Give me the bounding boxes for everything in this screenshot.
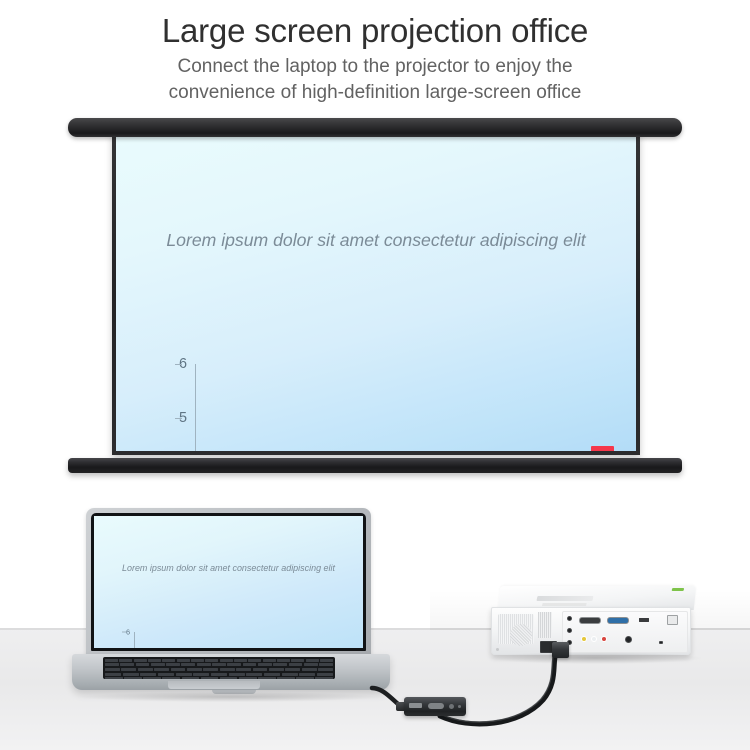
screen-top-roller-bar xyxy=(68,118,682,137)
keyboard-key xyxy=(291,659,304,662)
keyboard-key xyxy=(181,663,195,666)
screen-surface: Lorem ipsum dolor sit amet consectetur a… xyxy=(116,137,636,451)
projector-vent xyxy=(538,612,552,638)
y-tick-label: 5 xyxy=(179,410,195,426)
projector-green-accent xyxy=(672,588,685,591)
sub-audio-jack xyxy=(625,636,632,643)
keyboard-key xyxy=(105,663,119,666)
bar-group xyxy=(443,364,567,451)
bar-group xyxy=(323,632,363,648)
keyboard-key xyxy=(229,673,245,676)
keyboard-key xyxy=(154,668,169,671)
laptop-device: Lorem ipsum dolor sit amet consectetur a… xyxy=(72,508,390,706)
keyboard-key xyxy=(317,673,333,676)
keyboard-key xyxy=(269,668,284,671)
keyboard-key xyxy=(320,659,333,662)
audio-jack-1 xyxy=(567,616,572,621)
keyboard-key xyxy=(299,673,315,676)
slide-content-small: Lorem ipsum dolor sit amet consectetur a… xyxy=(94,516,363,648)
keyboard-key xyxy=(315,677,333,679)
keyboard-key xyxy=(201,677,219,679)
subtitle-line-2: convenience of high-definition large-scr… xyxy=(0,80,750,106)
keyboard-key xyxy=(197,663,211,666)
keyboard-key xyxy=(134,659,147,662)
keyboard-key xyxy=(306,659,319,662)
keyboard-key xyxy=(162,659,175,662)
y-tick-label: 6 xyxy=(179,356,195,372)
bar-group xyxy=(134,632,197,648)
keyboard-key xyxy=(319,663,333,666)
keyboard-key xyxy=(258,677,276,679)
keyboard-key xyxy=(264,673,280,676)
keyboard-key xyxy=(277,659,290,662)
keyboard-row xyxy=(103,677,335,679)
keyboard-key xyxy=(105,673,121,676)
projector-cable-plug xyxy=(552,642,569,658)
keyboard-row xyxy=(103,659,335,662)
keyboard-key xyxy=(239,677,257,679)
laptop-trackpad xyxy=(168,681,260,689)
keyboard-key xyxy=(243,663,257,666)
slide-content-large: Lorem ipsum dolor sit amet consectetur a… xyxy=(116,137,636,451)
keyboard-key xyxy=(285,668,300,671)
keyboard-key xyxy=(205,659,218,662)
keyboard-key xyxy=(282,673,298,676)
keyboard-row xyxy=(103,668,335,671)
slide-header-text: Lorem ipsum dolor sit amet consectetur a… xyxy=(116,230,636,251)
keyboard-row xyxy=(103,663,335,666)
keyboard-key xyxy=(318,668,333,671)
bar-group xyxy=(195,364,319,451)
keyboard-key xyxy=(253,668,268,671)
audio-jack-2 xyxy=(567,628,572,633)
projector-speaker-circle xyxy=(510,624,532,646)
keyboard-key xyxy=(296,677,314,679)
keyboard-key xyxy=(120,663,134,666)
vga-port xyxy=(607,617,629,624)
adapter-vga-port xyxy=(428,703,444,709)
bar-group xyxy=(567,364,636,451)
rca-audio-left-port xyxy=(591,636,597,642)
projector-model-text xyxy=(542,603,587,606)
keyboard-key xyxy=(151,663,165,666)
slide-header-text: Lorem ipsum dolor sit amet consectetur a… xyxy=(94,563,363,573)
laptop-lid: Lorem ipsum dolor sit amet consectetur a… xyxy=(86,508,371,656)
keyboard-key xyxy=(193,673,209,676)
keyboard-key xyxy=(203,668,218,671)
keyboard-key xyxy=(191,659,204,662)
keyboard-key xyxy=(143,677,161,679)
bar-groups xyxy=(134,632,363,648)
keyboard-key xyxy=(258,663,272,666)
laptop-keyboard xyxy=(103,657,335,679)
keyboard-key xyxy=(220,677,238,679)
keyboard-row xyxy=(103,673,335,676)
rca-video-port xyxy=(581,636,587,642)
bar-groups xyxy=(195,364,636,451)
bar-chart: 0 1 2 3 4 5 6 Category 1Category 2Catego… xyxy=(134,632,363,648)
rca-audio-right-port xyxy=(601,636,607,642)
keyboard-key xyxy=(121,668,136,671)
keyboard-key xyxy=(105,677,123,679)
keyboard-key xyxy=(138,668,153,671)
y-tick-label: 6 xyxy=(126,627,134,636)
bar-chart: 0 1 2 3 4 5 6 Category 1Category 2Catego… xyxy=(195,364,636,451)
keyboard-key xyxy=(162,677,180,679)
adapter-indicator-led xyxy=(458,705,461,708)
keyboard-key xyxy=(187,668,202,671)
projector-speaker-grille xyxy=(498,614,534,644)
keyboard-key xyxy=(148,659,161,662)
screen-frame: Lorem ipsum dolor sit amet consectetur a… xyxy=(112,133,640,455)
laptop-shadow xyxy=(80,692,380,702)
bar-group xyxy=(197,632,260,648)
keyboard-key xyxy=(277,677,295,679)
keyboard-key xyxy=(289,663,303,666)
projector-device xyxy=(489,586,701,662)
projector-rear-panel xyxy=(491,607,691,655)
keyboard-key xyxy=(304,663,318,666)
bar xyxy=(591,446,615,451)
keyboard-key xyxy=(246,673,262,676)
keyboard-key xyxy=(227,663,241,666)
keyboard-key xyxy=(177,659,190,662)
keyboard-key xyxy=(140,673,156,676)
keyboard-key xyxy=(119,659,132,662)
keyboard-key xyxy=(105,659,118,662)
laptop-screen: Lorem ipsum dolor sit amet consectetur a… xyxy=(94,516,363,648)
keyboard-key xyxy=(124,677,142,679)
usb-port xyxy=(639,618,649,622)
vga-adapter-dongle xyxy=(404,697,466,716)
bar-group xyxy=(319,364,443,451)
projector-brand-logo xyxy=(536,596,593,601)
keyboard-key xyxy=(248,659,261,662)
keyboard-key xyxy=(105,668,120,671)
keyboard-key xyxy=(136,663,150,666)
bar-group xyxy=(260,632,323,648)
projector-port-panel xyxy=(562,611,688,653)
keyboard-key xyxy=(263,659,276,662)
page-subtitle: Connect the laptop to the projector to e… xyxy=(0,54,750,106)
projector-screw xyxy=(496,648,499,651)
keyboard-key xyxy=(273,663,287,666)
page-title: Large screen projection office xyxy=(0,10,750,52)
subtitle-line-1: Connect the laptop to the projector to e… xyxy=(0,54,750,80)
keyboard-key xyxy=(158,673,174,676)
lan-port xyxy=(667,615,678,625)
keyboard-key xyxy=(166,663,180,666)
keyboard-key xyxy=(220,659,233,662)
keyboard-key xyxy=(211,673,227,676)
projector-shadow xyxy=(489,652,701,664)
keyboard-key xyxy=(182,677,200,679)
adapter-hdmi-port xyxy=(409,703,422,708)
keyboard-key xyxy=(123,673,139,676)
dvi-port xyxy=(579,617,601,624)
keyboard-key xyxy=(212,663,226,666)
keyboard-key xyxy=(302,668,317,671)
laptop-bezel: Lorem ipsum dolor sit amet consectetur a… xyxy=(91,513,366,651)
keyboard-key xyxy=(236,668,251,671)
adapter-audio-port xyxy=(449,704,454,709)
keyboard-key xyxy=(220,668,235,671)
page-header: Large screen projection office Connect t… xyxy=(0,0,750,112)
keyboard-key xyxy=(176,673,192,676)
keyboard-key xyxy=(171,668,186,671)
keyboard-key xyxy=(234,659,247,662)
service-port xyxy=(659,641,663,644)
projection-screen: Lorem ipsum dolor sit amet consectetur a… xyxy=(68,118,682,486)
screen-bottom-weight-bar xyxy=(68,458,682,473)
